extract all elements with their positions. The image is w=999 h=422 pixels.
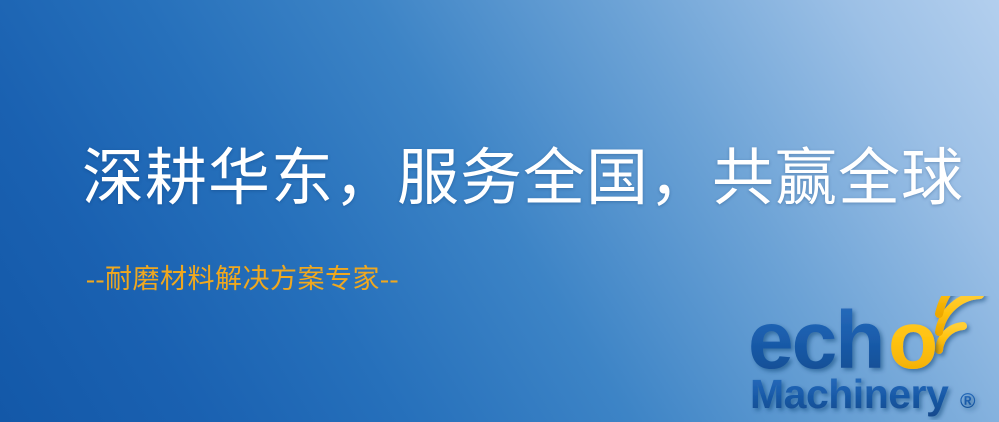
logo-svg: ech o Machinery ® — [748, 296, 996, 420]
banner-headline: 深耕华东，服务全国，共赢全球 — [82, 148, 964, 210]
promo-banner: 深耕华东，服务全国，共赢全球 --耐磨材料解决方案专家-- — [0, 0, 999, 422]
registered-trademark-icon: ® — [960, 390, 976, 413]
logo-wordmark-machinery: Machinery ® — [750, 371, 976, 417]
logo-text-machinery: Machinery — [750, 371, 949, 417]
echo-machinery-logo[interactable]: ech o Machinery ® — [748, 296, 996, 420]
signal-waves-icon — [939, 296, 996, 350]
banner-subtitle: --耐磨材料解决方案专家-- — [86, 266, 399, 293]
